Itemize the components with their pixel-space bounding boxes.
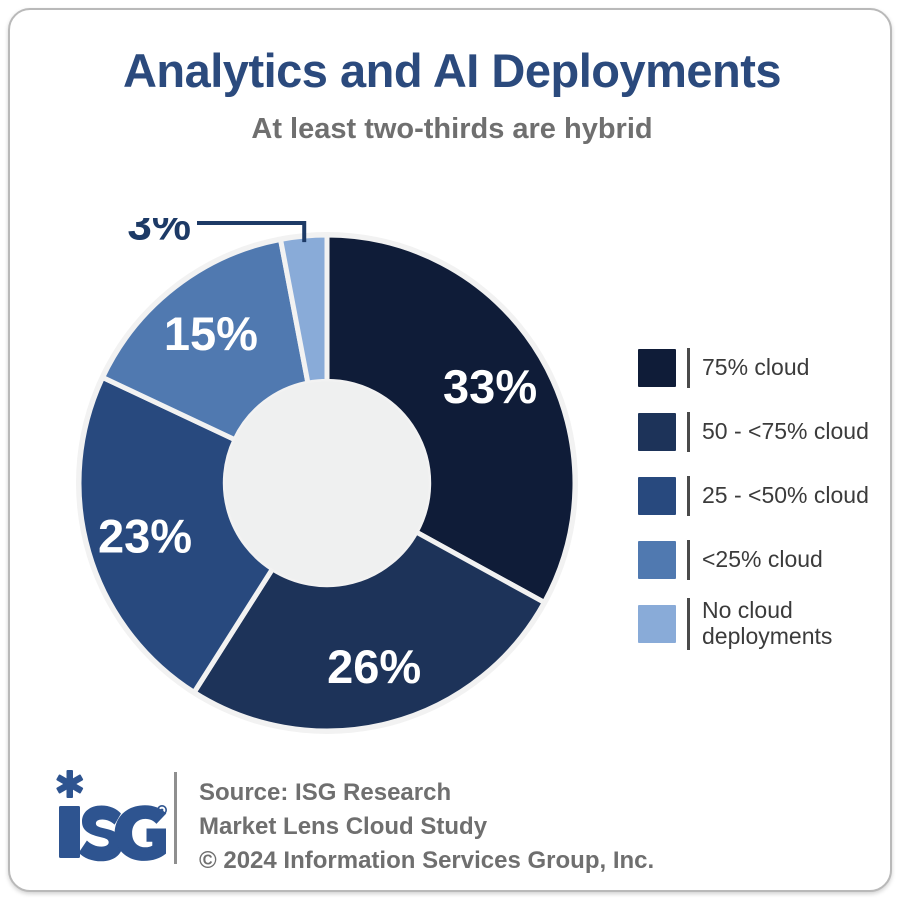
isg-logo-mark <box>50 768 168 868</box>
legend-item[interactable]: No clouddeployments <box>638 592 888 656</box>
footer-line: © 2024 Information Services Group, Inc. <box>199 844 654 878</box>
legend-item-label: <25% cloud <box>702 547 823 573</box>
legend-item[interactable]: 50 - <75% cloud <box>638 400 888 464</box>
donut-chart: 33%26%23%15% 3% <box>62 218 592 748</box>
donut-center-hole <box>225 381 428 584</box>
legend-swatch-divider <box>687 476 690 516</box>
footer-divider <box>174 772 177 864</box>
chart-card: Analytics and AI Deployments At least tw… <box>8 8 892 892</box>
asterisk-icon <box>56 770 83 798</box>
legend-swatch-divider <box>687 598 690 650</box>
legend-item[interactable]: 75% cloud <box>638 336 888 400</box>
donut-chart-svg: 33%26%23%15% 3% <box>62 218 592 748</box>
slice-data-label: 23% <box>98 509 192 562</box>
page-subtitle: At least two-thirds are hybrid <box>10 114 892 146</box>
chart-legend: 75% cloud50 - <75% cloud25 - <50% cloud<… <box>638 336 888 656</box>
footer-line: Market Lens Cloud Study <box>199 810 654 844</box>
legend-swatch <box>638 413 676 451</box>
legend-item-label: 25 - <50% cloud <box>702 483 869 509</box>
legend-item-label: 75% cloud <box>702 355 809 381</box>
legend-swatch-divider <box>687 348 690 388</box>
legend-swatch <box>638 541 676 579</box>
legend-item-label: 50 - <75% cloud <box>702 419 869 445</box>
footer-line: Source: ISG Research <box>199 776 654 810</box>
slice-data-label: 33% <box>443 360 537 413</box>
footer: Source: ISG ResearchMarket Lens Cloud St… <box>50 768 850 878</box>
page-title: Analytics and AI Deployments <box>10 46 892 95</box>
legend-item[interactable]: <25% cloud <box>638 528 888 592</box>
footer-text: Source: ISG ResearchMarket Lens Cloud St… <box>199 776 654 878</box>
slice-data-label: 15% <box>164 307 258 360</box>
isg-logo <box>50 768 168 868</box>
legend-swatch <box>638 605 676 643</box>
legend-swatch-divider <box>687 540 690 580</box>
legend-item-label: No clouddeployments <box>702 598 832 650</box>
legend-swatch-divider <box>687 412 690 452</box>
slice-data-label: 26% <box>327 640 421 693</box>
legend-swatch <box>638 477 676 515</box>
legend-item[interactable]: 25 - <50% cloud <box>638 464 888 528</box>
slice-callout-label: 3% <box>127 218 191 250</box>
legend-swatch <box>638 349 676 387</box>
